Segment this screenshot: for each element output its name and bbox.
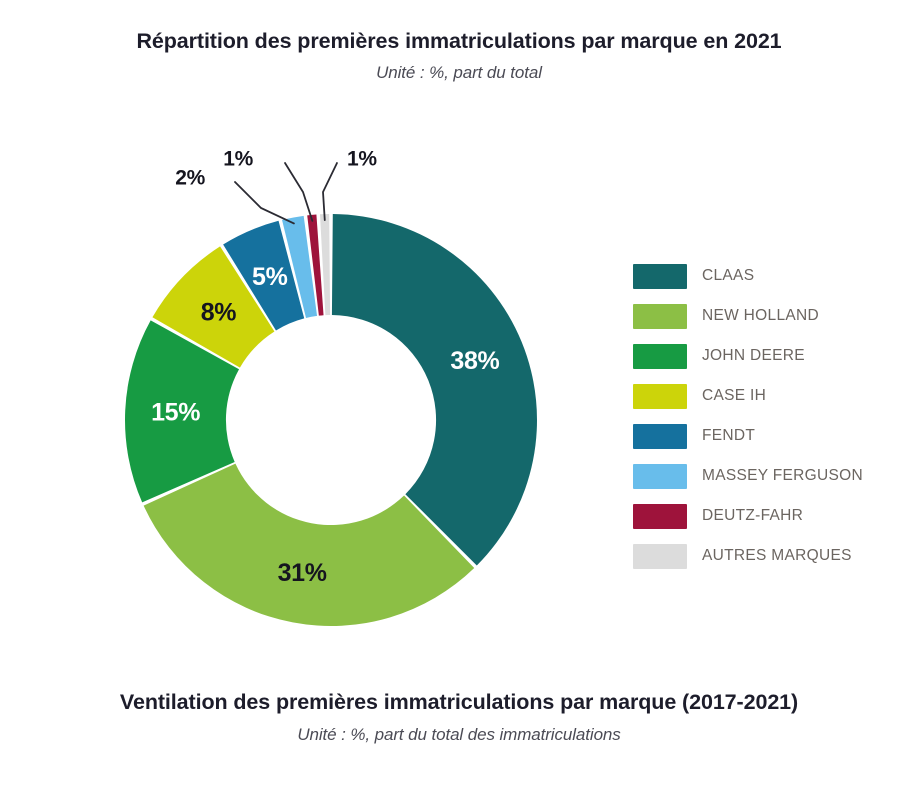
- slice-value-label: 38%: [450, 347, 499, 375]
- legend-swatch: [633, 304, 687, 329]
- legend-item-label: FENDT: [702, 427, 755, 445]
- legend-item-label: MASSEY FERGUSON: [702, 467, 863, 485]
- chart-legend: CLAASNEW HOLLANDJOHN DEERECASE IHFENDTMA…: [633, 256, 903, 576]
- bottom-title-block: Ventilation des premières immatriculatio…: [0, 690, 918, 745]
- legend-swatch: [633, 464, 687, 489]
- legend-item[interactable]: JOHN DEERE: [633, 336, 903, 376]
- legend-item-label: DEUTZ-FAHR: [702, 507, 803, 525]
- legend-item-label: CASE IH: [702, 387, 766, 405]
- legend-item[interactable]: NEW HOLLAND: [633, 296, 903, 336]
- slice-value-label: 1%: [347, 148, 377, 171]
- legend-swatch: [633, 384, 687, 409]
- callout-leader-line: [235, 182, 294, 223]
- callout-leader-line: [285, 163, 312, 221]
- bottom-title: Ventilation des premières immatriculatio…: [0, 690, 918, 715]
- donut-callout-labels: 2%1%1%: [175, 148, 377, 224]
- slice-value-label: 8%: [201, 299, 237, 327]
- legend-swatch: [633, 504, 687, 529]
- legend-swatch: [633, 544, 687, 569]
- donut-chart-svg: 38%31%15%8%5% 2%1%1%: [95, 130, 575, 650]
- callout-leader-line: [323, 163, 337, 220]
- legend-swatch: [633, 264, 687, 289]
- legend-item[interactable]: DEUTZ-FAHR: [633, 496, 903, 536]
- top-title-block: Répartition des premières immatriculatio…: [0, 29, 918, 83]
- slice-value-label: 15%: [151, 399, 200, 427]
- legend-item-label: CLAAS: [702, 267, 754, 285]
- donut-chart: 38%31%15%8%5% 2%1%1%: [95, 130, 575, 650]
- slice-value-label: 1%: [223, 148, 253, 171]
- legend-item[interactable]: CLAAS: [633, 256, 903, 296]
- legend-item-label: AUTRES MARQUES: [702, 547, 852, 565]
- slice-value-label: 31%: [278, 559, 327, 587]
- page-subtitle: Unité : %, part du total: [0, 54, 918, 83]
- bottom-subtitle: Unité : %, part du total des immatricula…: [0, 715, 918, 745]
- donut-slice[interactable]: [332, 214, 537, 566]
- legend-swatch: [633, 424, 687, 449]
- legend-swatch: [633, 344, 687, 369]
- legend-item-label: NEW HOLLAND: [702, 307, 819, 325]
- legend-item[interactable]: FENDT: [633, 416, 903, 456]
- page-title: Répartition des premières immatriculatio…: [0, 29, 918, 54]
- legend-item[interactable]: AUTRES MARQUES: [633, 536, 903, 576]
- slice-value-label: 5%: [252, 263, 288, 291]
- legend-item[interactable]: CASE IH: [633, 376, 903, 416]
- slice-value-label: 2%: [175, 167, 205, 190]
- legend-item[interactable]: MASSEY FERGUSON: [633, 456, 903, 496]
- chart-page: Répartition des premières immatriculatio…: [0, 0, 918, 787]
- legend-item-label: JOHN DEERE: [702, 347, 805, 365]
